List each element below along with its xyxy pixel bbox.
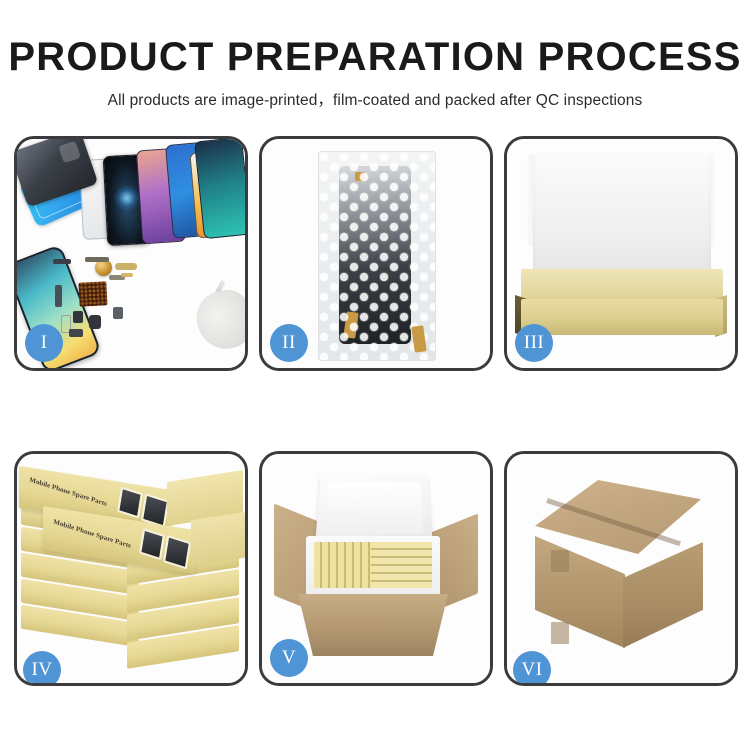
step-badge-6: VI (513, 651, 551, 686)
process-step-panel-2: II (259, 136, 493, 371)
step-badge-5: V (270, 639, 308, 677)
sealed-shipping-carton-photo (507, 454, 735, 683)
step-badge-3: III (515, 324, 553, 362)
earpiece-mesh-part (53, 259, 71, 264)
white-foam-sheet (533, 153, 711, 279)
process-step-panel-6: VI (504, 451, 738, 686)
box-front-panel (521, 299, 723, 335)
box-label-text-front: Mobile Phone Spare Parts (53, 518, 132, 550)
bubble-wrap-bag (318, 151, 436, 361)
process-step-grid: I II III (14, 136, 736, 686)
carton-right-face (623, 542, 703, 648)
carton-front-panel (298, 594, 448, 656)
header: PRODUCT PREPARATION PROCESS All products… (0, 0, 750, 110)
process-step-panel-5: V (259, 451, 493, 686)
styrofoam-lid (315, 475, 433, 544)
process-step-panel-4: Mobile Phone Spare Parts Mobile Phone Sp… (14, 451, 248, 686)
connector-gold-part (115, 263, 137, 270)
step-badge-4: IV (23, 651, 61, 686)
page-subtitle: All products are image-printed，film-coat… (0, 88, 750, 110)
process-step-panel-1: I (14, 136, 248, 371)
camera-module-part (73, 311, 83, 323)
box-window-phone-b-front (163, 535, 191, 569)
box-window-phone-a-front (139, 528, 165, 560)
yellow-boxes-inside (314, 542, 432, 588)
box-label-text-upper: Mobile Phone Spare Parts (29, 476, 108, 508)
antenna-strip-part (55, 285, 62, 307)
stacked-box-top-front-right (191, 512, 245, 567)
stacked-retail-boxes-photo: Mobile Phone Spare Parts Mobile Phone Sp… (17, 454, 245, 683)
process-step-panel-3: III (504, 136, 738, 371)
page-title: PRODUCT PREPARATION PROCESS (0, 36, 750, 78)
step-badge-1: I (25, 324, 63, 362)
technician-hand (192, 286, 245, 354)
box-inner-rim (521, 269, 723, 303)
box-stack: Mobile Phone Spare Parts Mobile Phone Sp… (17, 454, 245, 683)
box-window-phone-a-upper (117, 487, 143, 519)
gold-contact-part (121, 273, 133, 277)
speaker-module-part (89, 315, 101, 329)
button-flex-part (69, 329, 83, 337)
flex-cable-part (85, 257, 109, 262)
carton-left-face (535, 536, 625, 648)
step-badge-2: II (270, 324, 308, 362)
vibration-motor-part (113, 307, 123, 319)
carton-tape-lower (551, 622, 569, 644)
chip-grid-part (78, 281, 107, 306)
carton-tape-upper (551, 550, 569, 572)
